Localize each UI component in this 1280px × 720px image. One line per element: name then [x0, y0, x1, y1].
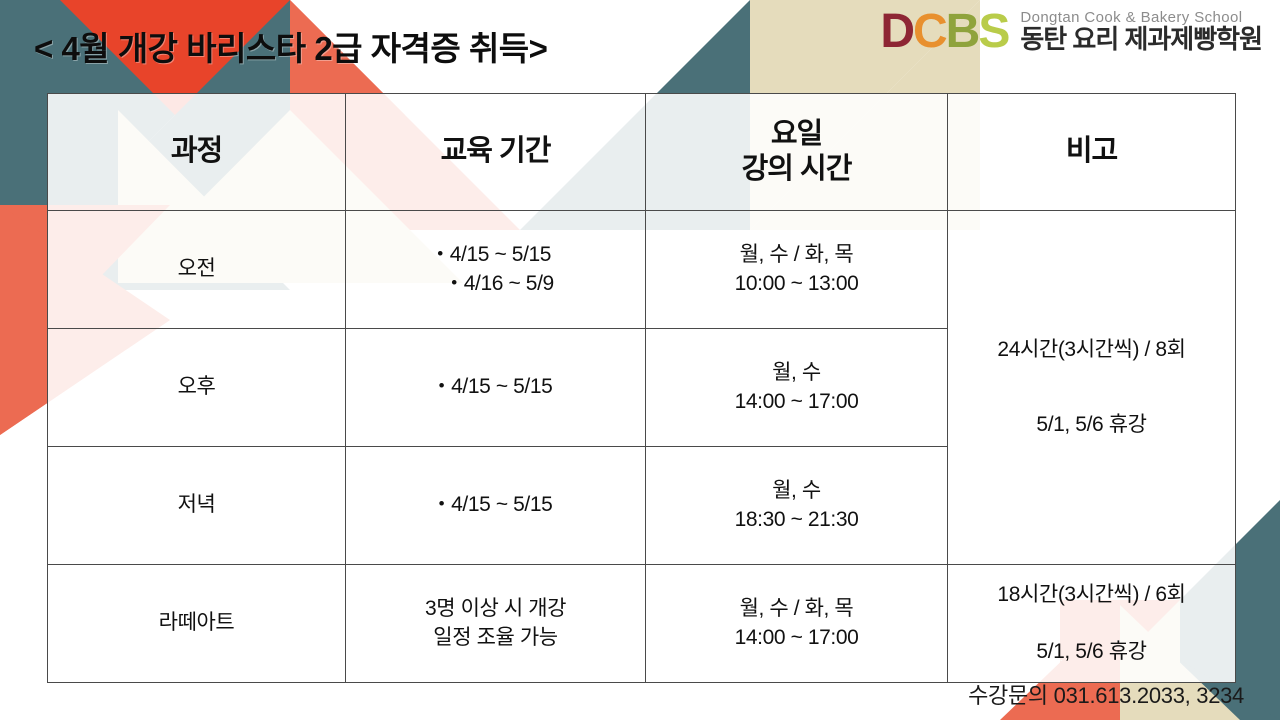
time-text: 14:00 ~ 17:00	[652, 388, 941, 417]
cell-period-morning: 4/15 ~ 5/15 4/16 ~ 5/9	[346, 211, 646, 329]
time-text: 10:00 ~ 13:00	[652, 270, 941, 299]
table-row: 오전 4/15 ~ 5/15 4/16 ~ 5/9 월, 수 / 화, 목 10…	[48, 211, 1236, 329]
dcbs-logomark: DCBS	[880, 8, 1008, 56]
period-line2: 일정 조율 가능	[352, 624, 639, 653]
period-bullet: 4/15 ~ 5/15	[439, 373, 553, 402]
logo-letter-b: B	[946, 8, 979, 56]
brand-logo: DCBS Dongtan Cook & Bakery School 동탄 요리 …	[880, 8, 1262, 56]
logo-letter-d: D	[880, 8, 913, 56]
column-header-remarks: 비고	[948, 94, 1236, 211]
cell-course-morning: 오전	[48, 211, 346, 329]
cell-days-latteart: 월, 수 / 화, 목 14:00 ~ 17:00	[646, 565, 948, 683]
contact-footer: 수강문의 031.613.2033, 3234	[968, 678, 1244, 710]
table-header-row: 과정 교육 기간 요일 강의 시간 비고	[48, 94, 1236, 211]
period-bullet: 4/15 ~ 5/15	[437, 241, 554, 270]
days-text: 월, 수 / 화, 목	[652, 241, 941, 270]
cell-remarks-barista: 24시간(3시간씩) / 8회 5/1, 5/6 휴강	[948, 211, 1236, 565]
course-schedule-table: 과정 교육 기간 요일 강의 시간 비고 오전 4/15 ~ 5/15 4/16…	[47, 93, 1236, 683]
cell-period-afternoon: 4/15 ~ 5/15	[346, 329, 646, 447]
time-text: 18:30 ~ 21:30	[652, 506, 941, 535]
period-bullet: 4/15 ~ 5/15	[439, 491, 553, 520]
cell-days-morning: 월, 수 / 화, 목 10:00 ~ 13:00	[646, 211, 948, 329]
column-header-period: 교육 기간	[346, 94, 646, 211]
table-row: 라떼아트 3명 이상 시 개강 일정 조율 가능 월, 수 / 화, 목 14:…	[48, 565, 1236, 683]
page-title: < 4월 개강 바리스타 2급 자격증 취득>	[34, 22, 547, 70]
period-bullet: 4/16 ~ 5/9	[437, 270, 554, 299]
period-line1: 3명 이상 시 개강	[352, 595, 639, 624]
remarks-holiday: 5/1, 5/6 휴강	[954, 638, 1229, 667]
cell-days-afternoon: 월, 수 14:00 ~ 17:00	[646, 329, 948, 447]
period-bullet-list: 4/15 ~ 5/15	[439, 491, 553, 520]
time-text: 14:00 ~ 17:00	[652, 624, 941, 653]
column-header-days-line2: 강의 시간	[652, 152, 941, 187]
column-header-days: 요일 강의 시간	[646, 94, 948, 211]
remarks-holiday: 5/1, 5/6 휴강	[954, 411, 1229, 440]
remarks-hours: 18시간(3시간씩) / 6회	[954, 581, 1229, 610]
cell-course-afternoon: 오후	[48, 329, 346, 447]
period-bullet-list: 4/15 ~ 5/15	[439, 373, 553, 402]
days-text: 월, 수	[652, 477, 941, 506]
logo-wordmark: Dongtan Cook & Bakery School 동탄 요리 제과제빵학…	[1020, 10, 1262, 53]
cell-days-evening: 월, 수 18:30 ~ 21:30	[646, 447, 948, 565]
logo-korean-name: 동탄 요리 제과제빵학원	[1020, 26, 1262, 53]
logo-letter-s: S	[978, 8, 1008, 56]
cell-course-latteart: 라떼아트	[48, 565, 346, 683]
cell-period-evening: 4/15 ~ 5/15	[346, 447, 646, 565]
logo-letter-c: C	[913, 8, 946, 56]
cell-remarks-latteart: 18시간(3시간씩) / 6회 5/1, 5/6 휴강	[948, 565, 1236, 683]
remarks-hours: 24시간(3시간씩) / 8회	[954, 336, 1229, 365]
cell-period-latteart: 3명 이상 시 개강 일정 조율 가능	[346, 565, 646, 683]
days-text: 월, 수	[652, 359, 941, 388]
days-text: 월, 수 / 화, 목	[652, 595, 941, 624]
period-bullet-list: 4/15 ~ 5/15 4/16 ~ 5/9	[437, 241, 554, 299]
column-header-days-line1: 요일	[652, 117, 941, 152]
column-header-course: 과정	[48, 94, 346, 211]
slide-canvas: < 4월 개강 바리스타 2급 자격증 취득> DCBS Dongtan Coo…	[0, 0, 1280, 720]
cell-course-evening: 저녁	[48, 447, 346, 565]
